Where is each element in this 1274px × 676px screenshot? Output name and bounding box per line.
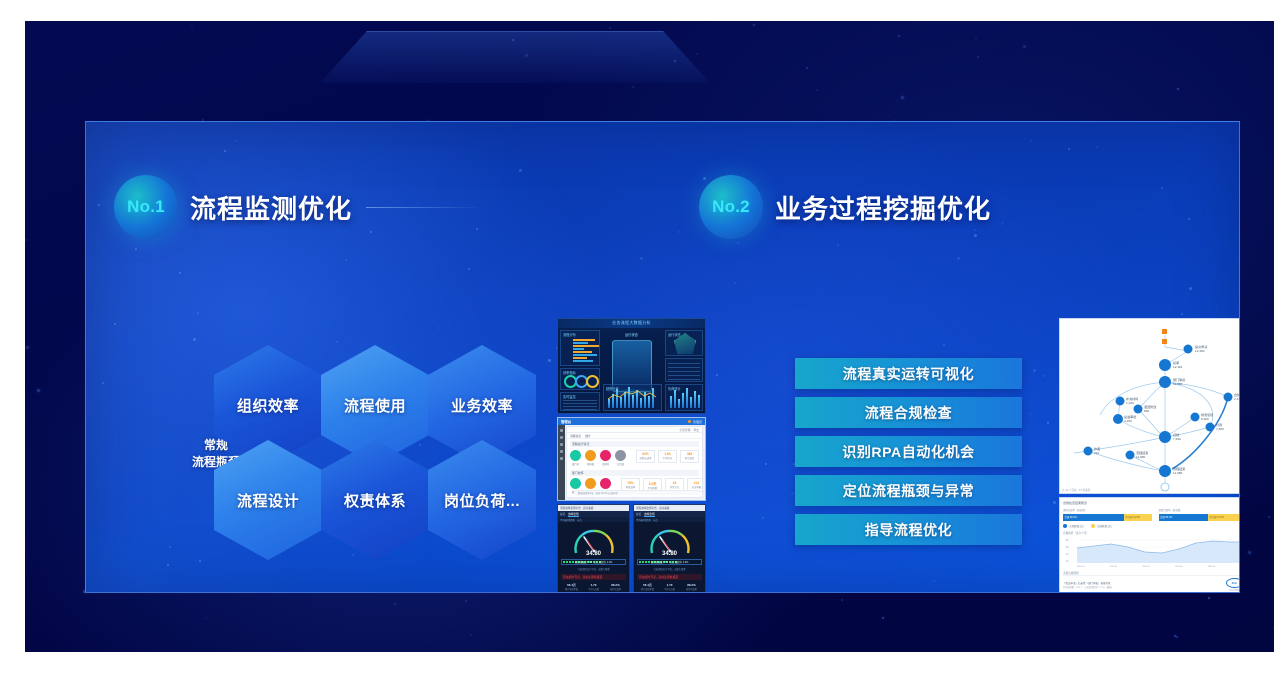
- svg-text:12,110: 12,110: [1173, 365, 1183, 369]
- section-badge-label-1: No.1: [127, 197, 165, 217]
- gauge-metric-label-r1-2: 平均节点数: [659, 587, 680, 591]
- gauge-value-left: 34.80: [571, 551, 617, 557]
- kpi-label-4: 系统可用率: [705, 456, 706, 460]
- hex-label-5: 权责体系: [344, 490, 406, 511]
- dept2-kpi-1: 88% 合规率: [570, 497, 589, 501]
- bi-panel-load: 负荷统计: [665, 384, 703, 411]
- report-title: 合规检查结果概览: [1063, 501, 1240, 505]
- admin-group-1-title: 流程运行情况: [570, 441, 699, 447]
- bi-panel-trend: 趋势分析: [603, 384, 662, 411]
- svg-text:80: 80: [1066, 540, 1069, 542]
- dept-kpi-label-3: 异常节点: [668, 485, 681, 489]
- report-bar-compliant-1: 合规 68.4%: [1063, 514, 1124, 521]
- bi-panel-efficiency: 效率指标: [560, 368, 600, 390]
- dept-kpi-label-4: 在途单据: [690, 485, 703, 489]
- bi-panel-label-4: 实时监控: [563, 394, 576, 399]
- section-title-2: 业务过程挖掘优化: [775, 189, 991, 226]
- admin-tab-2[interactable]: 统计: [585, 434, 591, 438]
- bi-panel-status: 运行状态: [665, 330, 703, 356]
- kpi-card-2: 1.8h 平均时长: [658, 450, 677, 463]
- sidebar-icon-4[interactable]: [560, 450, 563, 453]
- gauge-subtabs-right: 平均耗时趋势 节点: [634, 517, 705, 522]
- sidebar-icon-3[interactable]: [560, 443, 563, 446]
- admin-toolbar-item-1[interactable]: 全部流程: [679, 428, 690, 432]
- svg-text:12,480: 12,480: [1195, 349, 1205, 353]
- legend-swatch-1: [1063, 524, 1067, 528]
- status-circle-fill-2: [585, 450, 596, 461]
- gauge-topbar-title-right: 流程效率监测平台 · 实时看板: [636, 506, 669, 510]
- compliance-report-screenshot[interactable]: 合规检查结果概览 流程合规率（按实例） 合规 68.4% 不合规 31.6%: [1059, 497, 1240, 593]
- admin-tab-1[interactable]: 流程总览: [570, 434, 581, 438]
- gauge-metric-label-l1-1: 累计流转单量: [561, 587, 582, 591]
- report-bar-noncompliant-1: 不合规 31.6%: [1124, 514, 1153, 521]
- gauge-metric-r1-3: 88.2% 按时完成率: [681, 582, 702, 592]
- svg-text:60: 60: [1066, 547, 1069, 549]
- bi-panel-distribution: 流程分布: [560, 330, 600, 366]
- speedometer-gauge-left: 34.80: [571, 526, 617, 556]
- speedometer-gauge-right: 34.80: [647, 526, 693, 556]
- process-mining-graph-screenshot[interactable]: 提交申请12,480 初审12,110 部门审批11,640 合规检查2,310…: [1059, 318, 1240, 494]
- svg-text:1,240: 1,240: [1126, 401, 1134, 405]
- process-graph-svg: 提交申请12,480 初审12,110 部门审批11,640 合规检查2,310…: [1060, 319, 1240, 494]
- pill-compliance-check[interactable]: 流程合规检查: [795, 397, 1022, 428]
- admin-dashboard-screenshot[interactable]: 管理台 管理员 全部流程 导出: [557, 417, 706, 501]
- avatar: [688, 420, 692, 424]
- bi-dashboard-body: 流程分布 效率指标: [558, 328, 705, 413]
- insight-text-1: 「提交申请」后未经「部门审批」直接付款 命中实例数：413 个 · 占总实例比例…: [1063, 581, 1220, 590]
- pill-label-4: 定位流程瓶颈与异常: [843, 481, 974, 501]
- section-title-rule-1: [366, 207, 484, 208]
- gauge-metric-label-l1-2: 平均节点数: [583, 587, 604, 591]
- section-header-2: No.2 业务过程挖掘优化: [699, 175, 991, 239]
- svg-text:11,640: 11,640: [1173, 382, 1183, 386]
- gauge-subtab-right-1[interactable]: 平均耗时趋势: [636, 518, 651, 522]
- report-stacked-bar-2: 合规 55.1% 不合规 44.9%: [1159, 514, 1241, 521]
- x-label-3: 2023-03: [1142, 566, 1150, 568]
- dept2-kpi-value-5: 31: [661, 500, 674, 502]
- pill-bottleneck-anomaly[interactable]: 定位流程瓶颈与异常: [795, 475, 1022, 506]
- section-title-1: 流程监测优化: [190, 189, 352, 226]
- kpi-value-4: 99.2%: [705, 452, 706, 456]
- gauge-subtab-right-2[interactable]: 节点: [653, 518, 658, 522]
- admin-footer: 数据更新时间：每日 00:30 自动同步: [575, 490, 700, 495]
- svg-text:40: 40: [1066, 554, 1069, 556]
- hex-cell-post-load[interactable]: 岗位负荷...: [428, 440, 536, 560]
- admin-group-1: 流程运行情况 进行中 待审批: [567, 439, 702, 468]
- gauge-progress-text-left: 流程健康度 78% · 较上周提升 2.4%: [562, 560, 625, 564]
- svg-text:860: 860: [1144, 409, 1149, 413]
- kpi-label-2: 平均时长: [661, 456, 674, 460]
- insight-badge-caption-1: 命中实例数: [1220, 589, 1240, 592]
- kpi-card-3: 453 本月发起: [680, 450, 699, 463]
- svg-text:11,980: 11,980: [1173, 471, 1183, 475]
- hex-cell-process-design[interactable]: 流程设计: [214, 440, 322, 560]
- sidebar-icon-2[interactable]: [560, 436, 563, 439]
- section-badge-1: No.1: [114, 175, 178, 239]
- gauge-panel-right[interactable]: 流程效率监测平台 · 实时看板 总览 效率监测 平均耗时趋势 节点: [633, 504, 706, 593]
- dept-circle-fill-3: [600, 478, 611, 489]
- gauge-tab-right-2[interactable]: 效率监测: [644, 512, 654, 517]
- admin-footer-text: 数据更新时间：每日 00:30 自动同步: [578, 491, 618, 495]
- gauge-progress-left: 流程健康度 78% · 较上周提升 2.4%: [561, 559, 626, 565]
- report-bar-right-value-2: 不合规 44.9%: [1208, 514, 1240, 521]
- gauge-warning-right: 存在超时节点，请关注审批瓶颈: [637, 574, 702, 580]
- status-circle-label-3: 已超时: [600, 462, 611, 466]
- process-mining-screenshot-stack: 提交申请12,480 初审12,110 部门审批11,640 合规检查2,310…: [1059, 318, 1240, 593]
- legend-item-1: 合规数量占比: [1063, 524, 1084, 528]
- dept2-kpi-value-1: 88%: [573, 500, 586, 502]
- admin-toolbar-item-2[interactable]: 导出: [693, 428, 699, 432]
- sidebar-icon-5[interactable]: [560, 457, 563, 460]
- gauge-metric-l1-3: 88.2% 按时完成率: [605, 582, 626, 592]
- admin-user-area[interactable]: 管理员: [688, 420, 702, 424]
- bi-panel-table: [665, 358, 703, 382]
- insight-line1-1: 「提交申请」后未经「部门审批」直接付款: [1063, 581, 1220, 585]
- gauge-value-right: 34.80: [647, 551, 693, 557]
- gauge-progress-note-right: 当前流程运行平稳，无重大阻塞: [634, 567, 705, 571]
- bi-panel-realtime: 实时监控: [560, 392, 600, 411]
- report-stacked-bar-1: 合规 68.4% 不合规 31.6%: [1063, 514, 1153, 521]
- insight-badge-value-1: 413: [1226, 578, 1241, 588]
- x-label-4: 2023-04: [1175, 566, 1183, 568]
- compliance-trend-area-chart: 8060 4020: [1063, 536, 1240, 566]
- report-bar-noncompliant-2: 不合规 44.9%: [1208, 514, 1240, 521]
- svg-text:4,150: 4,150: [1124, 419, 1132, 423]
- gauge-topbar-title-left: 流程效率监测平台 · 实时看板: [560, 506, 593, 510]
- dept2-kpi-4: 97% 归档率: [636, 497, 655, 501]
- gauge-subtab-left-1[interactable]: 平均耗时趋势: [560, 518, 575, 522]
- section-header-1: No.1 流程监测优化: [114, 175, 514, 239]
- dept2-kpi-value-4: 97%: [639, 500, 652, 502]
- gauge-panels-row: 流程效率监测平台 · 实时看板 总览 效率监测 平均耗时趋势 节点: [557, 504, 706, 593]
- dept2-kpi-value-2: 12: [595, 500, 608, 502]
- hex-label-1: 组织效率: [237, 395, 299, 416]
- pill-process-optimization[interactable]: 指导流程优化: [795, 514, 1022, 545]
- admin-sidebar[interactable]: [558, 425, 565, 500]
- admin-main-area: 全部流程 导出 流程总览 统计 流程运行情况 进行中: [566, 426, 703, 498]
- gauge-progress-text-right: 流程健康度 78% · 较上周提升 2.4%: [638, 560, 701, 564]
- report-bar-left-value-1: 合规 68.4%: [1063, 514, 1124, 521]
- dept-kpi-label-1: 审批效率: [624, 485, 637, 489]
- admin-group-2-title: 部门效率: [570, 470, 699, 476]
- report-bar-label-1: 流程合规率（按实例）: [1063, 508, 1153, 512]
- legend-swatch-2: [1091, 524, 1095, 528]
- sidebar-icon-1[interactable]: [560, 429, 563, 432]
- dept-circle-fill-1: [570, 478, 581, 489]
- dept2-kpi-5: 31 返工数: [658, 497, 677, 501]
- bi-dashboard-screenshot[interactable]: 业务流程大数据分析 流程分布 效率指标: [557, 318, 706, 414]
- svg-text:310: 310: [1094, 451, 1099, 455]
- hex-label-3: 业务效率: [451, 395, 513, 416]
- hex-label-4: 流程设计: [237, 490, 299, 511]
- bi-center-title: 运行状态: [625, 332, 638, 337]
- dept-circle-fill-2: [585, 478, 596, 489]
- gauge-subtabs-left: 平均耗时趋势 节点: [558, 517, 629, 522]
- pill-label-5: 指导流程优化: [865, 520, 953, 540]
- gauge-metric-r1-1: 56.4万 累计流转单量: [637, 582, 658, 592]
- admin-topbar: 管理台 管理员: [558, 418, 705, 425]
- capability-pill-list: 流程真实运转可视化 流程合规检查 识别RPA自动化机会 定位流程瓶颈与异常 指导…: [795, 358, 1022, 553]
- status-circle-3[interactable]: 已超时: [600, 450, 611, 466]
- admin-group-1-kpis: 92% 流程达成率 1.8h 平均时长 453 本月发起: [636, 450, 706, 463]
- status-circle-2[interactable]: 待审批: [585, 450, 596, 466]
- insight-badge-1: 413 命中实例数: [1220, 578, 1240, 592]
- kpi-label-1: 流程达成率: [639, 456, 652, 460]
- status-circle-fill-1: [570, 450, 581, 461]
- svg-text:20: 20: [1066, 561, 1069, 563]
- legend-item-2: 违规数量占比: [1091, 524, 1112, 528]
- dept-kpi-label-2: 平均周期: [646, 486, 659, 490]
- gauge-metric-l1-2: 4.79 平均节点数: [583, 582, 604, 592]
- gauge-metric-r1-2: 4.79 平均节点数: [659, 582, 680, 592]
- report-legend: 合规数量占比 违规数量占比: [1063, 524, 1240, 528]
- hex-label-2: 流程使用: [344, 395, 406, 416]
- monitoring-screenshot-stack: 业务流程大数据分析 流程分布 效率指标: [557, 318, 706, 593]
- dept2-kpi-2: 12 优化项: [592, 497, 611, 501]
- gauge-progress-right: 流程健康度 78% · 较上周提升 2.4%: [637, 559, 702, 565]
- gauge-tab-right-1[interactable]: 总览: [636, 512, 641, 516]
- gauge-metrics-row1-left: 56.4万 累计流转单量 4.79 平均节点数 88.2% 按时完成率: [561, 582, 626, 592]
- hexagon-grid: 组织效率 流程使用 业务效率 流程设计 权责体系 岗位负荷...: [214, 345, 554, 560]
- gauge-tab-left-1[interactable]: 总览: [560, 512, 565, 516]
- bi-panel-label-1: 流程分布: [563, 332, 576, 337]
- status-circle-fill-4: [615, 450, 626, 461]
- dept2-kpi-3: 5 瓶颈点: [614, 497, 633, 501]
- admin-group-1-row: 进行中 待审批 已超时: [570, 450, 699, 466]
- pill-process-visualization[interactable]: 流程真实运转可视化: [795, 358, 1022, 389]
- x-label-2: 2023-02: [1110, 566, 1118, 568]
- admin-brand: 管理台: [561, 419, 571, 424]
- gauge-progress-note-left: 当前流程运行平稳，无重大阻塞: [558, 567, 629, 571]
- svg-text:7,640: 7,640: [1173, 437, 1181, 441]
- legend-label-2: 违规数量占比: [1097, 524, 1112, 528]
- svg-text:8,920: 8,920: [1201, 417, 1209, 421]
- pill-label-3: 识别RPA自动化机会: [842, 442, 975, 462]
- status-circle-4[interactable]: 已完结: [615, 450, 626, 466]
- status-circle-label-1: 进行中: [570, 462, 581, 466]
- section-badge-label-2: No.2: [712, 197, 750, 217]
- kpi-label-3: 本月发起: [683, 456, 696, 460]
- gauge-metric-l1-1: 56.4万 累计流转单量: [561, 582, 582, 592]
- section-badge-2: No.2: [699, 175, 763, 239]
- bi-trend-line: [604, 385, 663, 412]
- bi-panel-label-3: 运行状态: [668, 332, 681, 337]
- report-bar-1: 流程合规率（按实例） 合规 68.4% 不合规 31.6%: [1063, 508, 1153, 521]
- status-circle-label-4: 已完结: [615, 462, 626, 466]
- report-bars-row: 流程合规率（按实例） 合规 68.4% 不合规 31.6% 流程合规率（按金额）: [1063, 508, 1240, 521]
- hex-label-6: 岗位负荷...: [444, 490, 520, 511]
- report-bar-compliant-2: 合规 55.1%: [1159, 514, 1208, 521]
- gauge-metric-label-r1-1: 累计流转单量: [637, 587, 658, 591]
- hex-cell-authority-system[interactable]: 权责体系: [321, 440, 429, 560]
- kpi-card-4: 99.2% 系统可用率: [702, 450, 706, 463]
- kpi-card-1: 92% 流程达成率: [636, 450, 655, 463]
- svg-text:2,310: 2,310: [1234, 397, 1240, 401]
- x-label-5: 2023-05: [1208, 566, 1216, 568]
- dept2-kpi-value-3: 5: [617, 500, 630, 502]
- gauge-warning-left: 存在超时节点，请关注审批瓶颈: [561, 574, 626, 580]
- presentation-stage: No.1 流程监测优化 常规 流程瓶颈 组织效率 流程使用 业务效率 流程设计 …: [25, 21, 1274, 652]
- report-area-title: 合规趋势（近六个月）: [1063, 531, 1240, 535]
- admin-username: 管理员: [693, 420, 702, 424]
- gauge-panel-left[interactable]: 流程效率监测平台 · 实时看板 总览 效率监测 平均耗时趋势 节点: [557, 504, 630, 593]
- bi-dashboard-title: 业务流程大数据分析: [612, 320, 651, 326]
- process-graph-footer: 共 24 个活动 · 87 条路径: [1062, 488, 1090, 492]
- svg-text:7,830: 7,830: [1216, 427, 1224, 431]
- report-bar-left-value-2: 合规 55.1%: [1159, 514, 1208, 521]
- gauge-metrics-row1-right: 56.4万 累计流转单量 4.79 平均节点数 88.2% 按时完成率: [637, 582, 702, 592]
- pill-label-2: 流程合规检查: [865, 403, 953, 423]
- admin-group-2: 部门效率 财务部 人事部: [567, 468, 702, 502]
- top-decorative-outline: [320, 31, 710, 83]
- report-area-x-axis: 2023-01 2023-02 2023-03 2023-04 2023-05 …: [1063, 566, 1240, 568]
- content-card: No.1 流程监测优化 常规 流程瓶颈 组织效率 流程使用 业务效率 流程设计 …: [85, 121, 1240, 593]
- gauge-subtab-left-2[interactable]: 节点: [577, 518, 582, 522]
- status-circle-1[interactable]: 进行中: [570, 450, 581, 466]
- x-label-1: 2023-01: [1077, 566, 1085, 568]
- gauge-metric-label-l1-3: 按时完成率: [605, 587, 626, 591]
- report-bar-label-2: 流程合规率（按金额）: [1159, 508, 1241, 512]
- insight-row-1[interactable]: 「提交申请」后未经「部门审批」直接付款 命中实例数：413 个 · 占总实例比例…: [1063, 575, 1240, 593]
- gauge-tab-left-2[interactable]: 效率监测: [568, 512, 578, 517]
- pill-label-1: 流程真实运转可视化: [843, 364, 974, 384]
- bi-dashboard-header: 业务流程大数据分析: [558, 319, 705, 328]
- status-circle-label-2: 待审批: [585, 462, 596, 466]
- legend-label-1: 合规数量占比: [1069, 524, 1084, 528]
- report-bar-2: 流程合规率（按金额） 合规 55.1% 不合规 44.9%: [1159, 508, 1241, 521]
- insight-line2-1: 命中实例数：413 个 · 占总实例比例：3.3%（偏高）: [1063, 585, 1220, 589]
- admin-group-2-kpis-row2: 88% 合规率 12 优化项 5 瓶颈点: [570, 497, 699, 501]
- svg-text:11,980: 11,980: [1136, 455, 1146, 459]
- pill-rpa-opportunity[interactable]: 识别RPA自动化机会: [795, 436, 1022, 467]
- status-circle-fill-3: [600, 450, 611, 461]
- report-bar-right-value-1: 不合规 31.6%: [1124, 514, 1153, 521]
- gauge-metric-label-r1-3: 按时完成率: [681, 587, 702, 591]
